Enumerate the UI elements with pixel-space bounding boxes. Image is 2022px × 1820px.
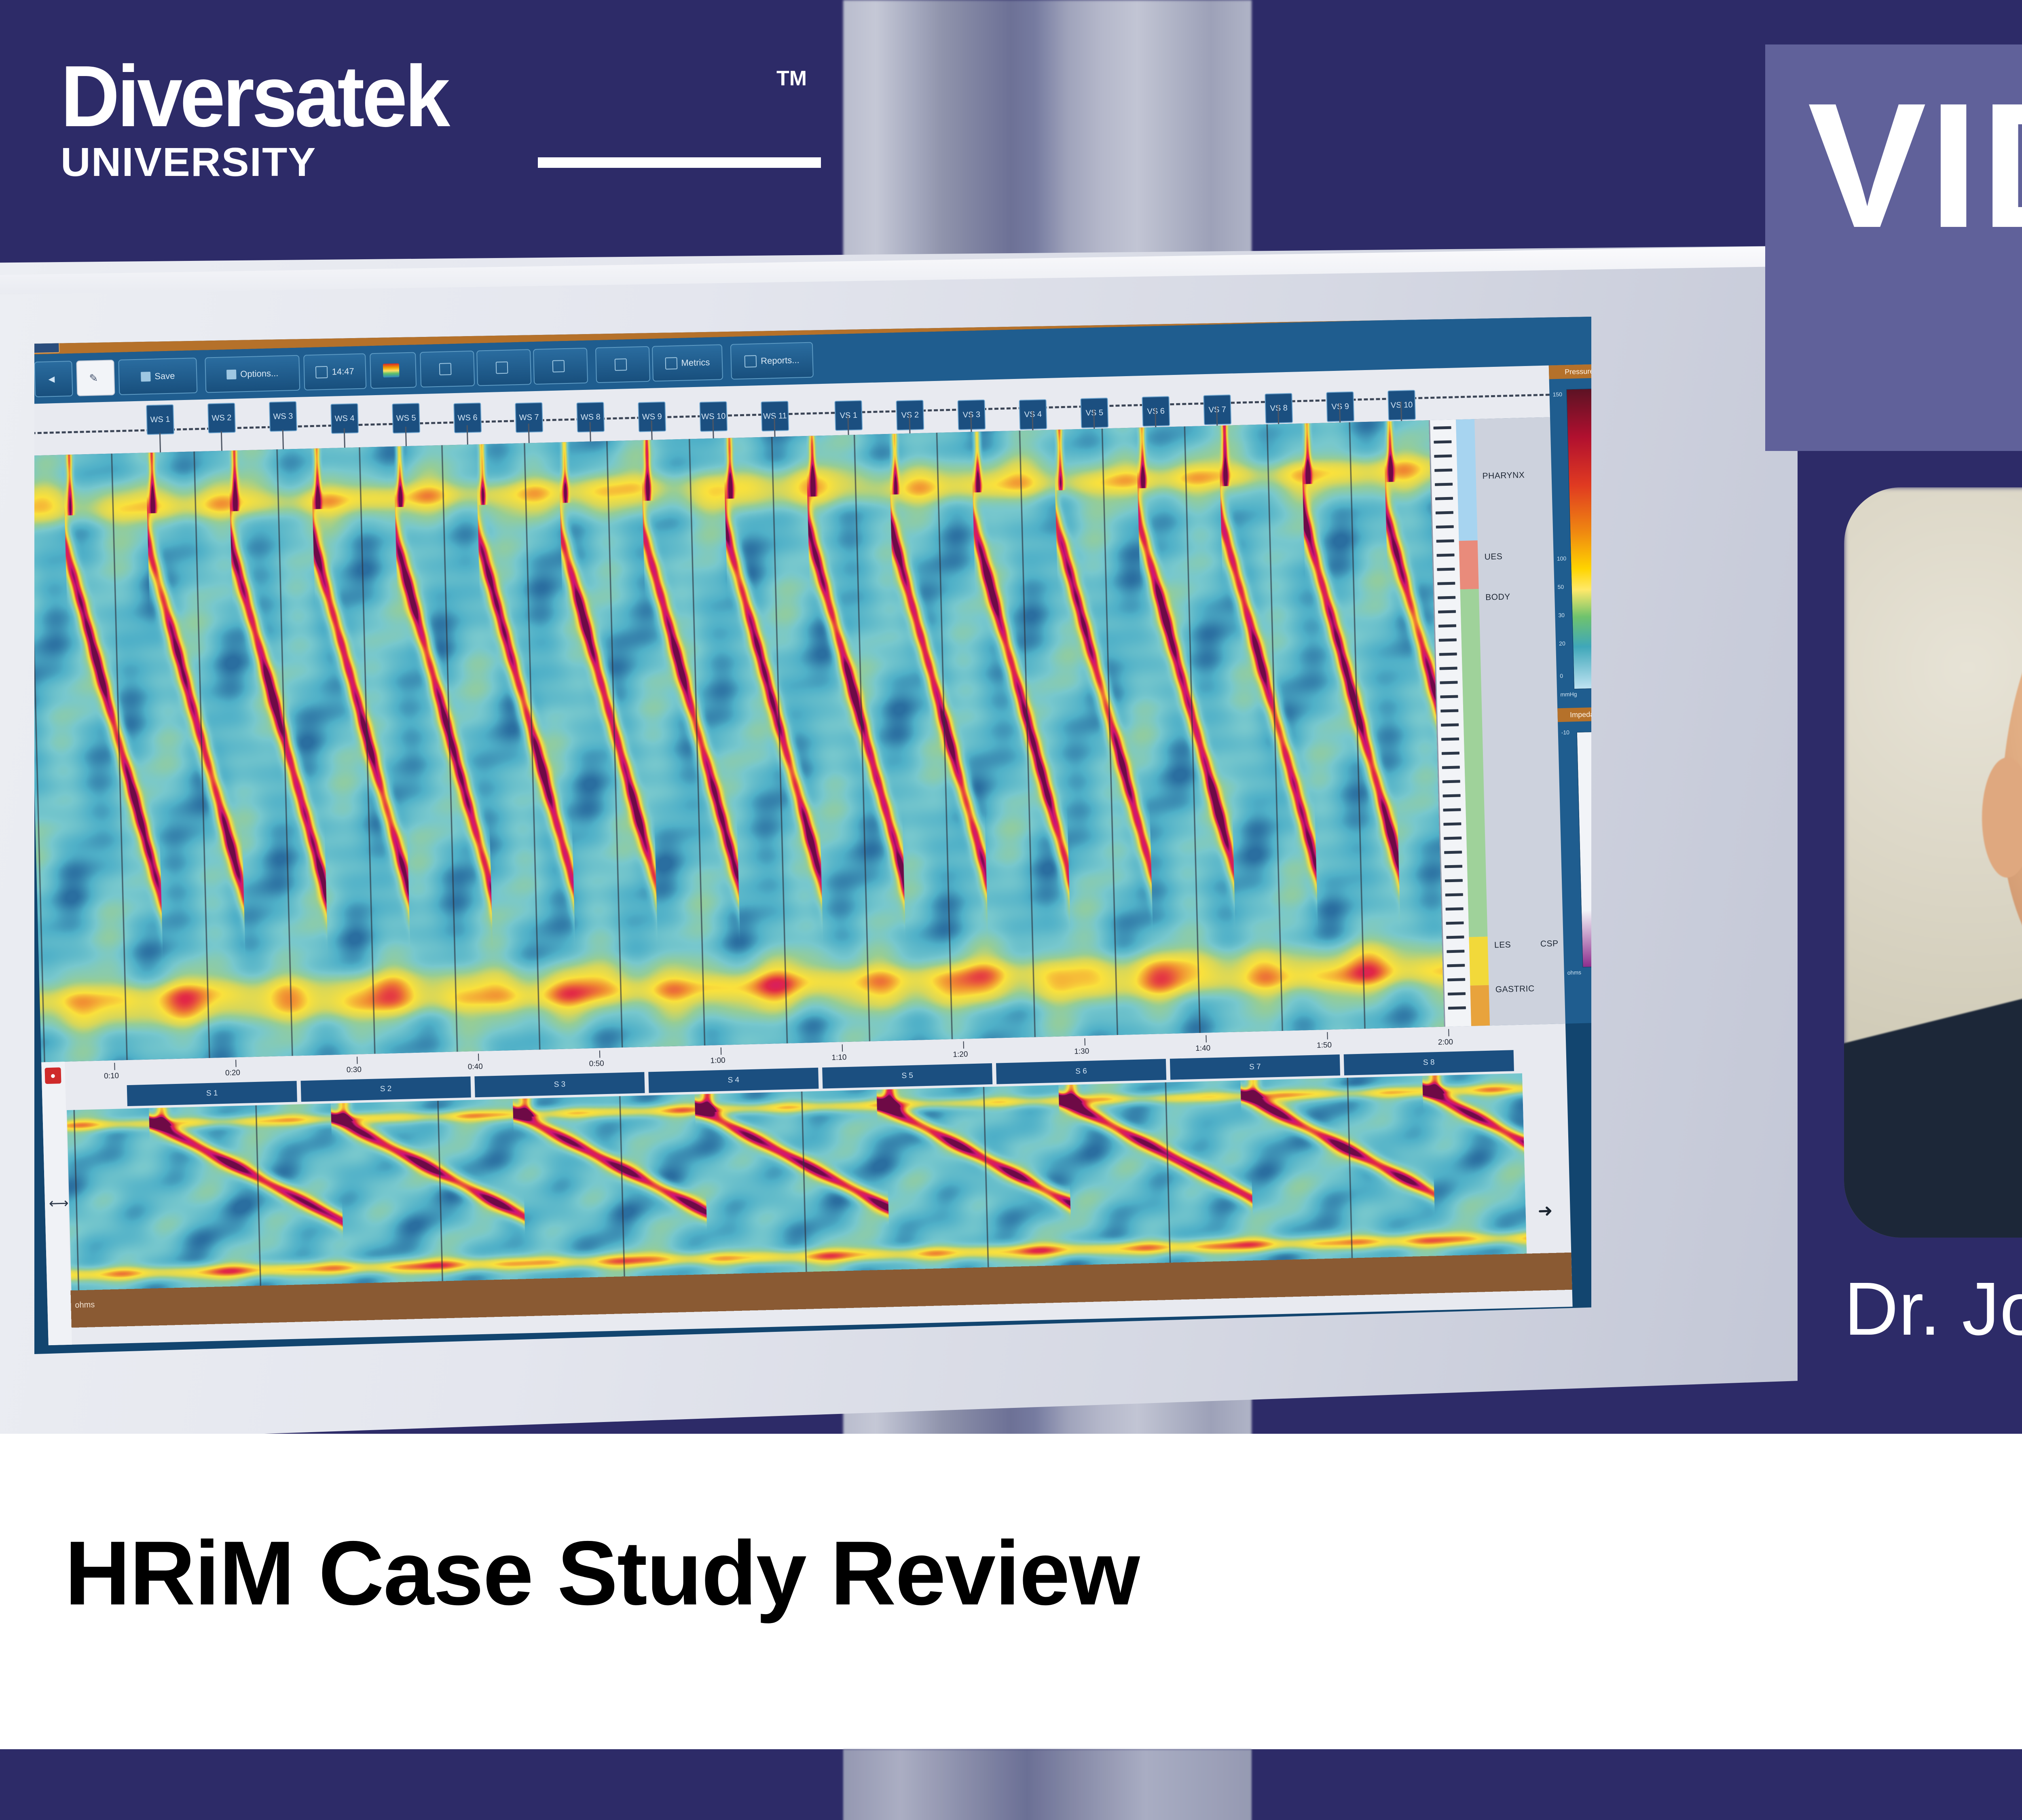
impedance-color-scale[interactable]: [1577, 732, 1591, 967]
impedance-swallow-band[interactable]: S 2: [301, 1077, 471, 1102]
pen-icon: ✎: [89, 372, 98, 385]
time-axis-tick-label: 1:20: [953, 1050, 968, 1059]
logo-rule: [538, 157, 821, 168]
record-icon[interactable]: ●: [45, 1067, 61, 1084]
ruler-tick: [1446, 907, 1464, 910]
time-axis-tick-mark: [963, 1041, 964, 1049]
time-axis-tick-mark: [478, 1054, 479, 1061]
time-axis-tick-mark: [842, 1044, 843, 1052]
toolbar-button-reports-icon[interactable]: Reports...: [730, 342, 814, 380]
time-axis-tick-label: 1:50: [1317, 1041, 1332, 1050]
time-axis-tick-label: 0:10: [104, 1072, 119, 1081]
toolbar-button-label: 14:47: [332, 366, 354, 377]
time-axis-tick-mark: [599, 1050, 600, 1058]
ruler-tick: [1443, 822, 1461, 825]
clock-icon: [315, 366, 328, 379]
anatomy-panel: PHARYNXUESBODYLESCSPGASTRIC: [1429, 417, 1567, 1026]
time-axis-tick-label: 0:50: [589, 1059, 604, 1069]
scale-tick-50: 50: [1557, 584, 1564, 590]
ruler-tick: [1438, 624, 1456, 628]
anatomy-label-ues: UES: [1484, 552, 1502, 562]
pressure-topography-plot[interactable]: [34, 420, 1444, 1062]
back-arrow-icon: ◄: [46, 372, 57, 385]
time-axis-tick-label: 2:00: [1438, 1038, 1453, 1047]
ruler-tick: [1440, 695, 1458, 698]
ruler-tick: [1434, 426, 1451, 430]
scale-tick-100: 100: [1557, 555, 1567, 562]
impedance-swallow-band[interactable]: S 3: [474, 1072, 645, 1098]
time-axis-tick-mark: [1206, 1035, 1206, 1042]
ruler-tick: [1441, 737, 1459, 741]
ruler-tick: [1444, 851, 1462, 854]
ruler-tick: [1446, 921, 1464, 925]
slide-canvas: Diversatek – HRiM Study — □ × Patient St…: [0, 0, 2022, 1820]
presenter-name: Dr. John Pandolfino: [1844, 1266, 2022, 1352]
ruler-tick: [1435, 497, 1453, 500]
toolbar-button-label: Options...: [240, 368, 279, 379]
pressure-unit-label: mmHg: [1560, 691, 1577, 698]
toolbar-button-save-icon[interactable]: Save: [118, 358, 197, 395]
scale-tick-0: 0: [1560, 673, 1563, 679]
swallow-marker[interactable]: WS 2: [207, 403, 236, 434]
ruler-tick: [1436, 511, 1453, 514]
toolbar-button-measure-left-icon[interactable]: [420, 351, 475, 387]
impedance-swallow-band[interactable]: S 6: [996, 1059, 1166, 1084]
time-axis-tick-label: 1:40: [1195, 1044, 1211, 1053]
save-icon: [141, 372, 151, 382]
ruler-tick: [1447, 978, 1465, 981]
ruler-tick: [1436, 525, 1454, 529]
time-axis-tick-label: 0:30: [347, 1065, 362, 1075]
ruler-tick: [1446, 935, 1464, 939]
ruler-tick: [1443, 794, 1461, 797]
ruler-tick: [1440, 681, 1457, 684]
ruler-tick: [1445, 879, 1463, 882]
time-axis-tick-label: 1:30: [1074, 1047, 1089, 1056]
time-axis-tick-mark: [235, 1060, 236, 1067]
time-axis-tick-mark: [1448, 1029, 1449, 1036]
impedance-swallow-band[interactable]: S 8: [1344, 1050, 1514, 1075]
ruler-tick: [1436, 540, 1454, 543]
ruler-tick: [1436, 554, 1454, 557]
metrics-icon: [665, 357, 677, 370]
scale-tick-20: 20: [1559, 640, 1565, 647]
ruler-tick: [1434, 455, 1452, 458]
toolbar-button-color-scale-icon[interactable]: [370, 352, 417, 389]
equipment-pole-lower: [843, 1749, 1252, 1820]
anatomy-label-les: LES: [1494, 940, 1511, 950]
ruler-tick: [1447, 964, 1465, 967]
ruler-tick: [1434, 440, 1451, 444]
toolbar-button-metrics-icon[interactable]: Metrics: [652, 344, 723, 381]
toolbar-button-clock-icon[interactable]: 14:47: [303, 353, 366, 391]
presenter-portrait: [1844, 487, 2022, 1238]
hrim-software-window: Diversatek – HRiM Study — □ × Patient St…: [34, 317, 1591, 1354]
pan-right-icon[interactable]: ➜: [1538, 1200, 1553, 1221]
ruler-tick: [1448, 992, 1466, 995]
options-icon: [226, 370, 237, 380]
ruler-tick: [1439, 639, 1457, 642]
impedance-swallow-band[interactable]: S 1: [127, 1081, 297, 1106]
time-axis-tick-mark: [114, 1063, 115, 1070]
anatomy-label-body: BODY: [1485, 592, 1510, 603]
ruler-tick: [1447, 950, 1464, 953]
scale-tick-150: 150: [1552, 391, 1562, 398]
clinical-monitor: Diversatek – HRiM Study — □ × Patient St…: [0, 246, 1798, 1443]
ruler-tick: [1440, 667, 1457, 670]
pressure-color-scale[interactable]: [1566, 389, 1591, 689]
impedance-swallow-band[interactable]: S 4: [648, 1068, 819, 1093]
time-axis-tick-mark: [1327, 1032, 1328, 1039]
anatomy-label-csp: CSP: [1540, 939, 1559, 949]
toolbar-button-label: Metrics: [681, 357, 710, 368]
ruler-tick: [1440, 709, 1458, 712]
toolbar-button-page-right-icon[interactable]: [595, 346, 650, 383]
time-axis-tick-label: 1:00: [710, 1056, 725, 1066]
toolbar-button-back-arrow-icon[interactable]: ◄: [34, 361, 73, 397]
ruler-tick: [1438, 610, 1456, 614]
ruler-tick: [1442, 766, 1460, 769]
page-title: HRiM Case Study Review: [65, 1521, 1139, 1625]
page-left-icon: [552, 360, 565, 372]
swallow-marker[interactable]: WS 1: [146, 404, 174, 435]
measure-left-icon: [439, 363, 452, 375]
anatomy-label-pharynx: PHARYNX: [1482, 470, 1525, 481]
ruler-tick: [1442, 751, 1459, 755]
ruler-tick: [1445, 865, 1462, 868]
reports-icon: [745, 355, 757, 368]
impedance-unit-label: ohms: [1567, 969, 1582, 976]
impedance-swallow-band[interactable]: S 5: [822, 1063, 992, 1089]
ruler-tick: [1438, 596, 1455, 599]
ruler-tick: [1439, 653, 1457, 656]
ruler-tick: [1444, 836, 1462, 840]
time-axis-tick-label: 1:10: [831, 1053, 847, 1062]
toolbar-button-measure-right-icon[interactable]: [476, 349, 531, 386]
logo-trademark: TM: [776, 66, 807, 91]
toolbar-button-label: Save: [154, 371, 175, 382]
ruler-tick: [1434, 469, 1452, 472]
ruler-tick: [1441, 723, 1459, 726]
color-scale-icon: [383, 363, 400, 377]
ruler-tick: [1443, 808, 1461, 811]
toolbar-button-page-left-icon[interactable]: [533, 348, 588, 385]
ruler-tick: [1435, 483, 1453, 486]
swallow-marker[interactable]: WS 3: [269, 401, 297, 432]
ruler-tick: [1437, 582, 1455, 585]
time-axis-tick-label: 0:40: [468, 1062, 483, 1072]
time-axis-tick-mark: [1084, 1038, 1085, 1045]
ruler-tick: [1437, 568, 1455, 571]
impedance-panel-header: Impedance: [1557, 707, 1591, 722]
ruler-tick: [1448, 1006, 1466, 1009]
pressure-panel-header: Pressure: [1549, 364, 1591, 379]
page-right-icon: [615, 358, 627, 371]
scale-tick-30: 30: [1558, 612, 1565, 618]
toolbar-button-pen-icon[interactable]: ✎: [76, 360, 115, 396]
ruler-tick: [1442, 780, 1460, 783]
time-axis-tick-mark: [721, 1048, 721, 1055]
impedance-top-tick: -10: [1561, 729, 1570, 736]
status-band-text: ohms: [75, 1300, 95, 1310]
monitor-screen: Diversatek – HRiM Study — □ × Patient St…: [34, 317, 1591, 1354]
pan-left-icon[interactable]: ⟷: [49, 1195, 69, 1212]
anatomy-label-gastric: GASTRIC: [1495, 984, 1534, 995]
impedance-swallow-band[interactable]: S 7: [1170, 1054, 1340, 1080]
ruler-tick: [1445, 893, 1463, 896]
logo-wordmark: Diversatek: [61, 53, 448, 140]
video-badge-label: VIDEO: [1808, 77, 2022, 255]
time-axis-tick-label: 0:20: [225, 1069, 241, 1078]
time-axis-tick-mark: [357, 1057, 357, 1064]
measure-right-icon: [496, 362, 508, 374]
brand-logo: Diversatek TM UNIVERSITY: [61, 53, 829, 186]
toolbar-button-options-icon[interactable]: Options...: [205, 355, 300, 393]
toolbar-button-label: Reports...: [761, 355, 799, 366]
logo-subtitle: UNIVERSITY: [61, 142, 317, 182]
